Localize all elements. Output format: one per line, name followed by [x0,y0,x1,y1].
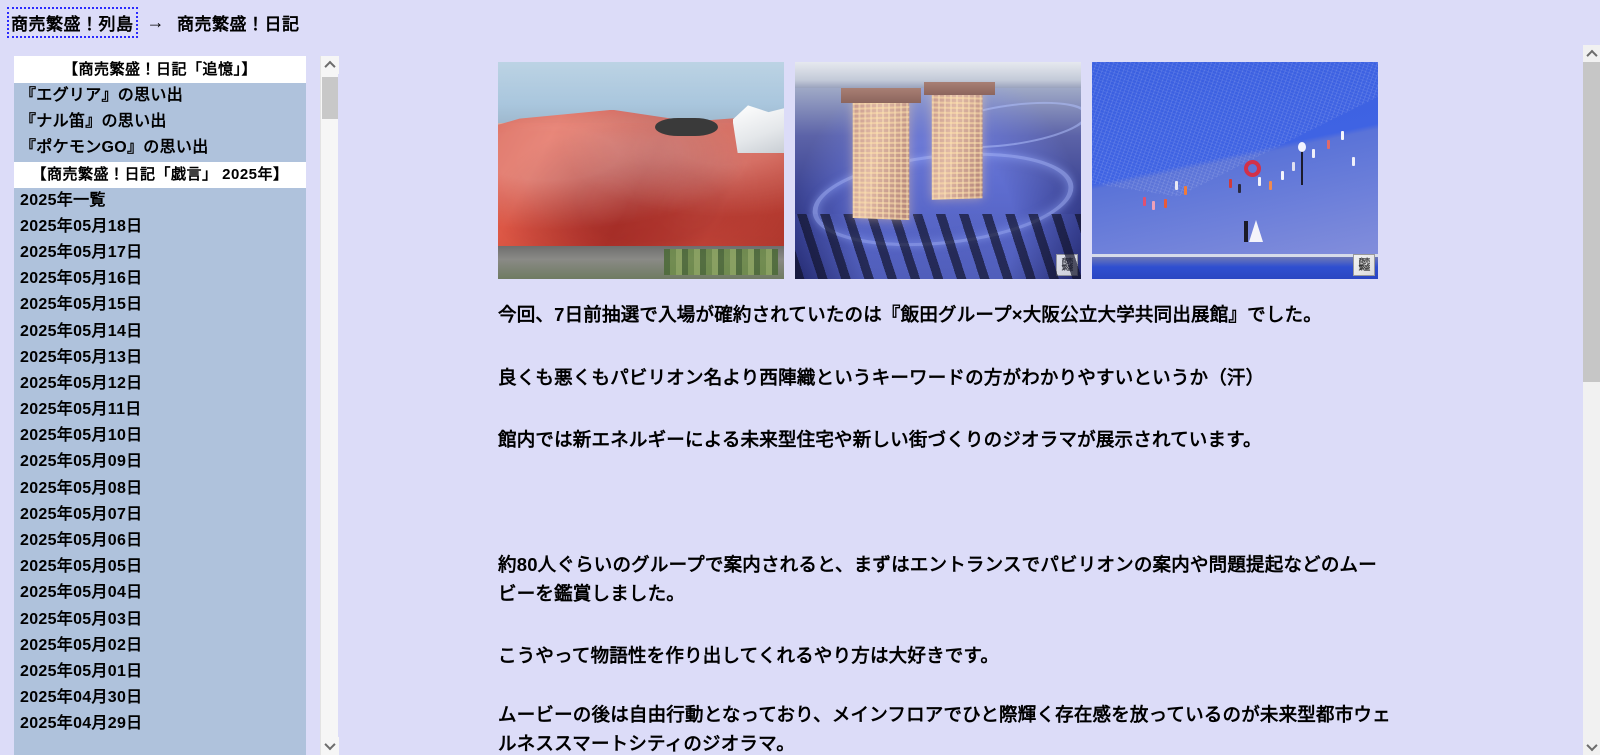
sidebar-item-date-20250503[interactable]: 2025年05月03日 [14,607,306,633]
photo3-figure [1184,186,1187,195]
photo-gallery: 商売繁盛 商売繁盛 [498,62,1538,279]
breadcrumb-link-parent[interactable]: 商売繁盛！列島 [10,10,135,35]
photo3-water [1092,62,1378,279]
watermark-badge: 商売繁盛 [1353,254,1375,276]
chevron-up-icon [1586,49,1597,60]
sidebar-scrollbar-thumb[interactable] [322,77,338,119]
photo2-ground-pads [795,214,1081,279]
sidebar-scroll-down-button[interactable] [321,737,339,755]
sidebar-scroll-up-button[interactable] [321,56,339,74]
chevron-down-icon [324,739,335,750]
sidebar-item-date-20250510[interactable]: 2025年05月10日 [14,423,306,449]
sidebar-item-date-20250429[interactable]: 2025年04月29日 [14,711,306,737]
breadcrumb-current: 商売繁盛！日記 [177,10,300,35]
photo3-quay [1092,257,1378,279]
photo3-figure [1152,201,1155,210]
sidebar-item-date-20250515[interactable]: 2025年05月15日 [14,292,306,318]
sidebar-item-date-20250508[interactable]: 2025年05月08日 [14,476,306,502]
photo3-figure [1352,157,1355,166]
page-scroll-down-button[interactable] [1583,738,1600,755]
sidebar-item-date-20250518[interactable]: 2025年05月18日 [14,214,306,240]
page-scrollbar[interactable] [1583,0,1600,755]
photo3-figure [1269,181,1272,190]
paragraph-5: こうやって物語性を作り出してくれるやり方は大好きです。 [498,642,1398,671]
photo3-figure [1164,199,1167,208]
photo3-figure [1281,171,1284,180]
sidebar: 【商売繁盛！日記「追憶」】 『エグリア』の思い出 『ナル笛』の思い出 『ポケモン… [14,56,338,755]
sidebar-item-date-20250502[interactable]: 2025年05月02日 [14,633,306,659]
photo3-groom-figure [1244,221,1248,242]
sidebar-item-eguria[interactable]: 『エグリア』の思い出 [14,83,306,109]
sidebar-item-date-20250506[interactable]: 2025年05月06日 [14,528,306,554]
chevron-up-icon [324,61,335,72]
photo3-lamp-post [1301,149,1303,185]
sidebar-scrollbar[interactable] [320,56,338,755]
photo3-figure [1238,184,1241,193]
sidebar-item-date-20250516[interactable]: 2025年05月16日 [14,266,306,292]
photo3-figure [1143,197,1146,206]
photo3-wreath [1244,160,1261,177]
photo3-figure [1175,181,1178,190]
sidebar-item-pokemongo[interactable]: 『ポケモンGO』の思い出 [14,135,306,161]
page-scrollbar-thumb[interactable] [1583,62,1600,382]
sidebar-item-narubue[interactable]: 『ナル笛』の思い出 [14,109,306,135]
sidebar-item-2025-index[interactable]: 2025年一覧 [14,188,306,214]
sidebar-item-date-20250509[interactable]: 2025年05月09日 [14,449,306,475]
sidebar-item-date-20250517[interactable]: 2025年05月17日 [14,240,306,266]
sidebar-section-header-zaregoto-2025: 【商売繁盛！日記「戯言」 2025年】 [14,162,306,188]
photo3-figure [1292,162,1295,171]
photo1-trees [664,249,778,275]
sidebar-item-date-20250513[interactable]: 2025年05月13日 [14,345,306,371]
sidebar-item-date-20250512[interactable]: 2025年05月12日 [14,371,306,397]
breadcrumb-arrow-icon: → [135,12,178,33]
photo3-figure [1258,177,1261,186]
page-scrollbar-top-gap [1583,0,1600,45]
paragraph-6: ムービーの後は自由行動となっており、メインフロアでひと際輝く存在感を放っているの… [498,701,1398,755]
photo3-figure [1341,131,1344,140]
photo3-bride-figure [1249,220,1263,242]
paragraph-3: 館内では新エネルギーによる未来型住宅や新しい街づくりのジオラマが展示されています… [498,426,1398,455]
paragraph-1: 今回、7日前抽選で入場が確約されていたのは『飯田グループ×大阪公立大学共同出展館… [498,301,1398,330]
photo3-figure [1229,179,1232,188]
sidebar-item-date-20250505[interactable]: 2025年05月05日 [14,554,306,580]
sidebar-item-date-20250511[interactable]: 2025年05月11日 [14,397,306,423]
breadcrumb: 商売繁盛！列島 → 商売繁盛！日記 [10,8,300,36]
sidebar-item-date-20250430[interactable]: 2025年04月30日 [14,685,306,711]
main-content: 商売繁盛 商売繁盛 [498,62,1538,755]
photo-waterfront-diorama[interactable]: 商売繁盛 [1092,62,1378,279]
photo3-figure [1312,149,1315,158]
sidebar-item-date-20250504[interactable]: 2025年05月04日 [14,580,306,606]
photo2-tower-right [932,89,983,199]
photo2-tower2-cap [924,82,996,95]
photo2-tower-left [853,96,910,220]
photo1-white-building [733,105,784,153]
page-root: 商売繁盛！列島 → 商売繁盛！日記 【商売繁盛！日記「追憶」】 『エグリア』の思… [0,0,1600,755]
sidebar-item-date-20250507[interactable]: 2025年05月07日 [14,502,306,528]
paragraph-4: 約80人ぐらいのグループで案内されると、まずはエントランスでパビリオンの案内や問… [498,551,1394,608]
sidebar-item-date-20250514[interactable]: 2025年05月14日 [14,319,306,345]
page-scroll-up-button[interactable] [1583,45,1600,62]
photo3-figure [1327,140,1330,149]
sidebar-item-date-20250501[interactable]: 2025年05月01日 [14,659,306,685]
photo-pavilion-exterior[interactable]: 商売繁盛 [498,62,784,279]
photo-city-diorama[interactable]: 商売繁盛 [795,62,1081,279]
chevron-down-icon [1586,739,1597,750]
sidebar-section-header-tsuioku: 【商売繁盛！日記「追憶」】 [14,57,306,83]
photo2-tower1-cap [841,88,921,103]
paragraph-2: 良くも悪くもパビリオン名より西陣織というキーワードの方がわかりやすいというか（汗… [498,364,1398,393]
photo1-roof-disc [655,118,718,135]
sidebar-scroll-viewport: 【商売繁盛！日記「追憶」】 『エグリア』の思い出 『ナル笛』の思い出 『ポケモン… [14,56,306,755]
